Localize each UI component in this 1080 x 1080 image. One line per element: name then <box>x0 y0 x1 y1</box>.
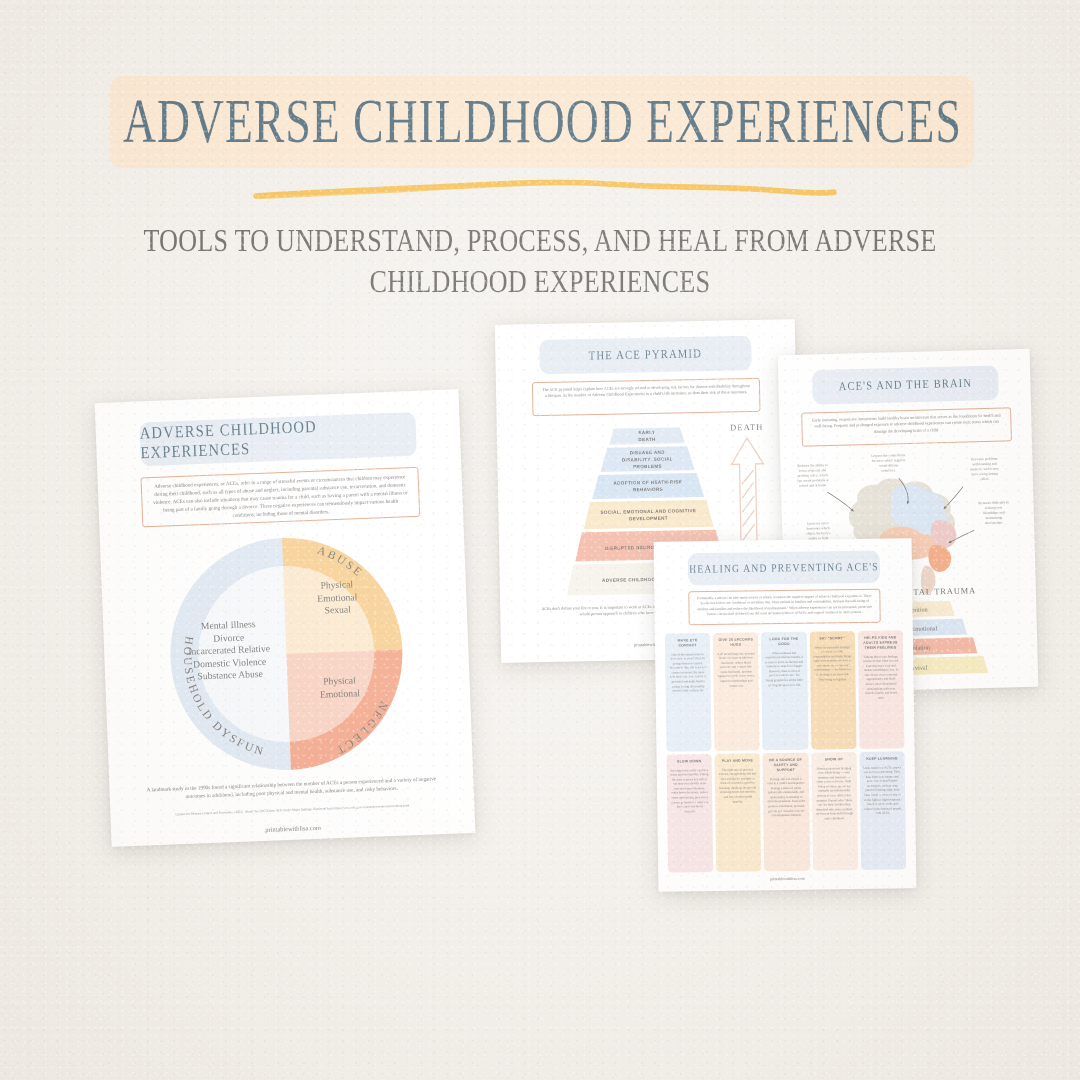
svg-text:friendships and: friendships and <box>983 510 1005 515</box>
pyramid-arrow-label: DEATH <box>730 422 764 433</box>
svg-text:school and at home.: school and at home. <box>799 483 827 488</box>
healing-card[interactable]: MAKE EYE CONTACTOne of the easiest ways … <box>665 633 712 752</box>
sheet-ace-pyramid-intro: The ACE pyramid helps explain how ACEs a… <box>532 378 761 416</box>
svg-text:Increases problems: Increases problems <box>971 457 999 462</box>
svg-text:DISABILITY, SOCIAL: DISABILITY, SOCIAL <box>622 457 673 463</box>
svg-text:making new: making new <box>985 506 1003 510</box>
healing-card[interactable]: SHOW UPShowing up means bringing your wh… <box>811 752 858 871</box>
pie-neglect-entries: PhysicalEmotional <box>287 674 392 703</box>
sheet-ace-pyramid-title: THE ACE PYRAMID <box>539 336 752 375</box>
svg-text:Increases stress: Increases stress <box>807 521 829 526</box>
sheet-ace-overview-site: printablewithlisa.com <box>111 819 475 840</box>
pie-abuse-entries: PhysicalEmotionalSexual <box>282 578 393 620</box>
healing-card-title: SLOW DOWN <box>670 759 708 765</box>
svg-text:EARLY: EARLY <box>638 430 655 435</box>
healing-card[interactable]: LOOK FOR THE GOODWhen someone has experi… <box>761 632 808 751</box>
sheet-aces-and-brain-intro: Early nurturing, responsive interactions… <box>801 407 1012 446</box>
up-arrow-icon <box>731 438 765 551</box>
svg-text:PROBLEMS: PROBLEMS <box>633 464 662 470</box>
ace-pie-chart: ABUSE NEGLECT HOUSEHOLD DYSFUNCTION Phys… <box>162 529 411 778</box>
svg-text:BEHAVIORS: BEHAVIORS <box>633 487 663 493</box>
healing-card-body: Talking about your feelings reinforces t… <box>861 654 900 700</box>
healing-card[interactable]: GIVE 20 SECONDS HUGSA 20 second hug can:… <box>713 632 760 751</box>
page-title: ADVERSE CHILDHOOD EXPERIENCES <box>123 86 962 157</box>
healing-card[interactable]: PLAY AND MOVEThe right mix of physical a… <box>715 753 762 872</box>
healing-card-title: SHOW UP <box>815 757 853 763</box>
underline-squiggle-icon <box>250 172 840 202</box>
healing-card-body: When someone has experienced adverse tra… <box>765 650 804 687</box>
sheet-healing-site: printablewithlisa.com <box>737 875 837 881</box>
sheet-healing-intro: Fortunately, a person can take many acti… <box>688 589 880 626</box>
healing-card[interactable]: BE A SOURCE OF SAFETY AND SUPPORTFeeling… <box>763 753 810 872</box>
healing-card-body: The right mix of physical activity, enou… <box>718 767 757 804</box>
svg-text:DEVELOPMENT: DEVELOPMENT <box>629 516 668 522</box>
svg-text:maintaining: maintaining <box>986 516 1003 520</box>
svg-text:hormones which: hormones which <box>806 526 830 531</box>
header-banner: ADVERSE CHILDHOOD EXPERIENCES <box>110 76 974 168</box>
svg-text:affects the body's: affects the body's <box>806 531 831 536</box>
svg-text:have a long lasting: have a long lasting <box>972 472 999 477</box>
healing-card-title: GIVE 20 SECONDS HUGS <box>717 637 755 648</box>
svg-text:for areas which regulate: for areas which regulate <box>872 458 906 463</box>
healing-card-title: MAKE EYE CONTACT <box>668 638 706 649</box>
healing-card[interactable]: KEEP LEARNINGUnderstand how ACEs impact … <box>859 751 906 870</box>
sheet-healing-preventing[interactable]: HEALING AND PREVENTING ACE'S Fortunately… <box>654 538 917 892</box>
sheet-ace-overview[interactable]: ADVERSE CHILDHOOD EXPERIENCES Adverse ch… <box>95 389 476 847</box>
svg-text:Increases difficulty in: Increases difficulty in <box>978 500 1009 505</box>
svg-text:effect.: effect. <box>980 477 989 481</box>
page-subtitle: TOOLS TO UNDERSTAND, PROCESS, AND HEAL F… <box>140 221 940 303</box>
healing-card-body: A 20 second hug can: increase levels of … <box>717 651 756 688</box>
healing-card[interactable]: SAY "SORRY"When we just make feelings of… <box>809 631 856 750</box>
svg-text:relationships.: relationships. <box>985 520 1004 524</box>
healing-card[interactable]: HELPS KIDS AND ADULTS EXPRESS THEIR FEEL… <box>858 630 905 749</box>
healing-card-title: KEEP LEARNING <box>863 756 901 762</box>
healing-card-body: Feeling safe and valued is vital to a ch… <box>767 776 806 818</box>
healing-card-title: SAY "SORRY" <box>813 636 851 642</box>
pie-household-entries: Mental IllnessDivorceIncarcerated Relati… <box>173 618 285 685</box>
healing-card-body: Showing up means bringing your whole bei… <box>815 766 854 822</box>
sheet-healing-title: HEALING AND PREVENTING ACE'S <box>688 551 880 586</box>
healing-card-title: BE A SOURCE OF SAFETY AND SUPPORT <box>766 758 804 774</box>
healing-card-body: One of the easiest ways to show love to … <box>669 652 708 694</box>
svg-text:can create problems at: can create problems at <box>797 478 829 483</box>
svg-text:Reduces the ability to: Reduces the ability to <box>797 463 828 468</box>
healing-card-title: LOOK FOR THE GOOD <box>765 637 803 648</box>
sheet-ace-overview-citation: Centers for Disease Control and Preventi… <box>162 803 422 818</box>
healing-card-grid: MAKE EYE CONTACTOne of the easiest ways … <box>665 630 906 872</box>
healing-card-body: Slowing down in life can have many posit… <box>670 768 709 814</box>
svg-text:DEATH: DEATH <box>638 437 656 442</box>
svg-text:behaviors.: behaviors. <box>881 468 896 472</box>
sheet-ace-overview-intro: Adverse childhood experiences, or ACEs, … <box>140 467 420 528</box>
svg-text:social-ditions: social-ditions <box>879 463 899 468</box>
healing-card[interactable]: SLOW DOWNSlowing down in life can have m… <box>667 754 714 873</box>
healing-card-title: HELPS KIDS AND ADULTS EXPRESS THEIR FEEL… <box>861 635 899 651</box>
svg-text:DISEASE AND: DISEASE AND <box>630 450 665 456</box>
healing-card-body: Understand how ACEs impact you and your … <box>863 765 902 816</box>
sheet-ace-overview-title: ADVERSE CHILDHOOD EXPERIENCES <box>139 412 416 466</box>
sheet-aces-and-brain-title: ACE'S AND THE BRAIN <box>812 365 999 404</box>
sheet-ace-overview-note: A landmark study in the 1990s found a si… <box>141 775 441 803</box>
healing-card-title: PLAY AND MOVE <box>718 758 756 764</box>
healing-card-body: When we just make feelings of shame and … <box>813 645 852 682</box>
svg-text:with learning and: with learning and <box>972 462 997 467</box>
